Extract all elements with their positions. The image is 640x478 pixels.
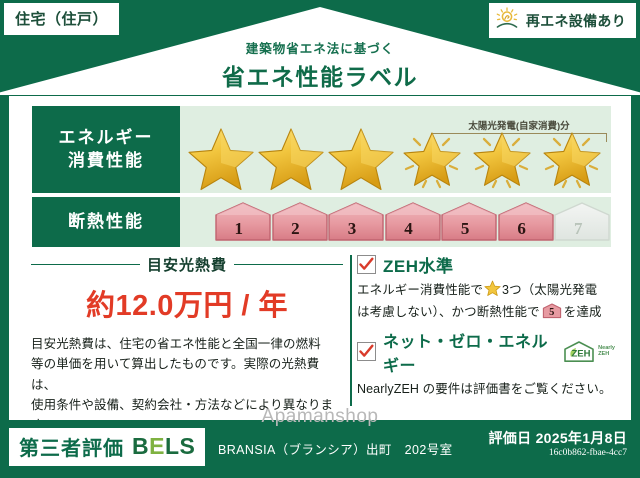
zeh-standard-label: ZEH水準 <box>383 252 454 277</box>
zeh-desc-mid: 3つ（太陽光発電 <box>502 283 597 297</box>
label-title: 建築物省エネ法に基づく 省エネ性能ラベル <box>0 38 640 92</box>
insulation-level-2: 2 <box>269 201 323 243</box>
zeh-column: ZEH水準 エネルギー消費性能で3つ（太陽光発電 は考慮しない）、かつ断熱性能で… <box>357 252 615 399</box>
property-name: BRANSIA（ブランシア）出町 202号室 <box>218 439 453 458</box>
svg-text:ZEH: ZEH <box>572 348 591 359</box>
insulation-level-5: 5 <box>438 201 492 243</box>
bels-letter-l: L <box>165 433 180 459</box>
insulation-level-1: 1 <box>212 201 266 243</box>
bels-jp-label: 第三者評価 <box>19 432 124 461</box>
star-2 <box>256 123 326 191</box>
nearly-line2: ZEH <box>598 351 609 357</box>
insulation-level-3-number: 3 <box>348 219 357 239</box>
heading-rule-left <box>31 264 140 266</box>
footer-bar: 第三者評価 BELS BRANSIA（ブランシア）出町 202号室 評価日 20… <box>0 420 640 478</box>
insulation-level-4-number: 4 <box>404 219 413 239</box>
star-4-solar <box>397 123 467 191</box>
energy-performance-value: 太陽光発電(自家消費)分 <box>180 106 611 193</box>
insulation-level-6: 6 <box>495 201 549 243</box>
energy-label-line2: 消費性能 <box>68 150 144 173</box>
energy-performance-row: エネルギー 消費性能 太陽光発電(自家消費)分 <box>32 106 611 193</box>
insulation-performance-row: 断熱性能 1 <box>32 197 611 247</box>
insulation-level-3: 3 <box>325 201 379 243</box>
insulation-level-5-number: 5 <box>461 219 470 239</box>
sun-icon <box>495 7 521 34</box>
inline-insulation-level-badge: 5 <box>542 303 562 319</box>
energy-star-rating <box>186 123 607 191</box>
insulation-level-2-number: 2 <box>291 219 300 239</box>
heating-cost-amount: 約12.0万円 / 年 <box>31 282 343 324</box>
net-zero-label: ネット・ゼロ・エネルギー <box>383 328 555 376</box>
zeh-desc-line2-pre: は考慮しない）、かつ断熱性能で <box>357 305 540 319</box>
net-zero-description: NearlyZEH の要件は評価書をご覧ください。 <box>357 379 615 399</box>
evaluation-id: 16c0b862-fbae-4cc7 <box>549 448 627 458</box>
heating-cost-column: 目安光熱費 約12.0万円 / 年 目安光熱費は、住宅の省エネ性能と全国一律の燃… <box>31 252 343 435</box>
bels-badge: 第三者評価 BELS <box>9 428 205 466</box>
insulation-label-text: 断熱性能 <box>68 211 144 234</box>
energy-label-line1: エネルギー <box>59 127 154 150</box>
star-5-solar <box>467 123 537 191</box>
house-type-badge: 住宅（住戸） <box>4 3 119 35</box>
insulation-level-7-number: 7 <box>574 219 583 239</box>
title-subtitle: 建築物省エネ法に基づく <box>0 38 640 57</box>
zeh-desc-pre: エネルギー消費性能で <box>357 283 483 297</box>
energy-label-root: 住宅（住戸） 再エネ設備あり 建築物省エネ法に基づく <box>0 0 640 478</box>
inline-star-icon <box>484 280 501 302</box>
renewable-badge-label: 再エネ設備あり <box>526 11 626 31</box>
net-zero-checkbox[interactable] <box>357 342 376 361</box>
heating-cost-heading-text: 目安光熱費 <box>147 254 227 275</box>
insulation-level-6-number: 6 <box>517 219 526 239</box>
energy-performance-label: エネルギー 消費性能 <box>32 106 180 193</box>
heating-cost-note-line1: 目安光熱費は、住宅の省エネ性能と全国一律の燃料 <box>31 334 343 354</box>
bels-en-logo: BELS <box>132 433 195 460</box>
insulation-level-4: 4 <box>382 201 436 243</box>
zeh-standard-check-row: ZEH水準 <box>357 252 615 277</box>
evaluation-date: 評価日 2025年1月8日 <box>488 428 627 448</box>
zeh-standard-checkbox[interactable] <box>357 255 376 274</box>
net-zero-check-row: ネット・ゼロ・エネルギー ZEH Nearly ZEH <box>357 328 615 376</box>
zeh-logo-badge: ZEH Nearly ZEH <box>562 340 615 364</box>
lower-section: 目安光熱費 約12.0万円 / 年 目安光熱費は、住宅の省エネ性能と全国一律の燃… <box>9 252 631 416</box>
insulation-performance-value: 1 2 3 <box>180 197 611 247</box>
star-6-solar <box>537 123 607 191</box>
bels-letter-b: B <box>132 433 149 459</box>
column-divider <box>350 255 352 406</box>
zeh-desc-line2-post: を達成 <box>564 305 602 319</box>
star-3 <box>326 123 396 191</box>
insulation-level-7: 7 <box>551 201 605 243</box>
star-1 <box>186 123 256 191</box>
insulation-performance-label: 断熱性能 <box>32 197 180 247</box>
label-body-panel: エネルギー 消費性能 太陽光発電(自家消費)分 <box>9 96 631 420</box>
heating-cost-heading: 目安光熱費 <box>31 254 343 275</box>
bels-letter-e: E <box>149 433 165 459</box>
zeh-standard-description: エネルギー消費性能で3つ（太陽光発電 は考慮しない）、かつ断熱性能で5を達成 <box>357 280 615 323</box>
nearly-zeh-sublabel: Nearly ZEH <box>598 346 615 358</box>
heading-rule-right <box>234 264 343 266</box>
title-main: 省エネ性能ラベル <box>0 58 640 92</box>
bels-letter-s: S <box>180 433 196 459</box>
insulation-level-scale: 1 2 3 <box>188 200 605 244</box>
insulation-level-1-number: 1 <box>235 219 244 239</box>
inline-level-number: 5 <box>542 304 562 321</box>
heating-cost-note-line2: 等の単価を用いて算出したものです。実際の光熱費は、 <box>31 354 343 395</box>
renewable-equipment-badge: 再エネ設備あり <box>489 3 636 38</box>
